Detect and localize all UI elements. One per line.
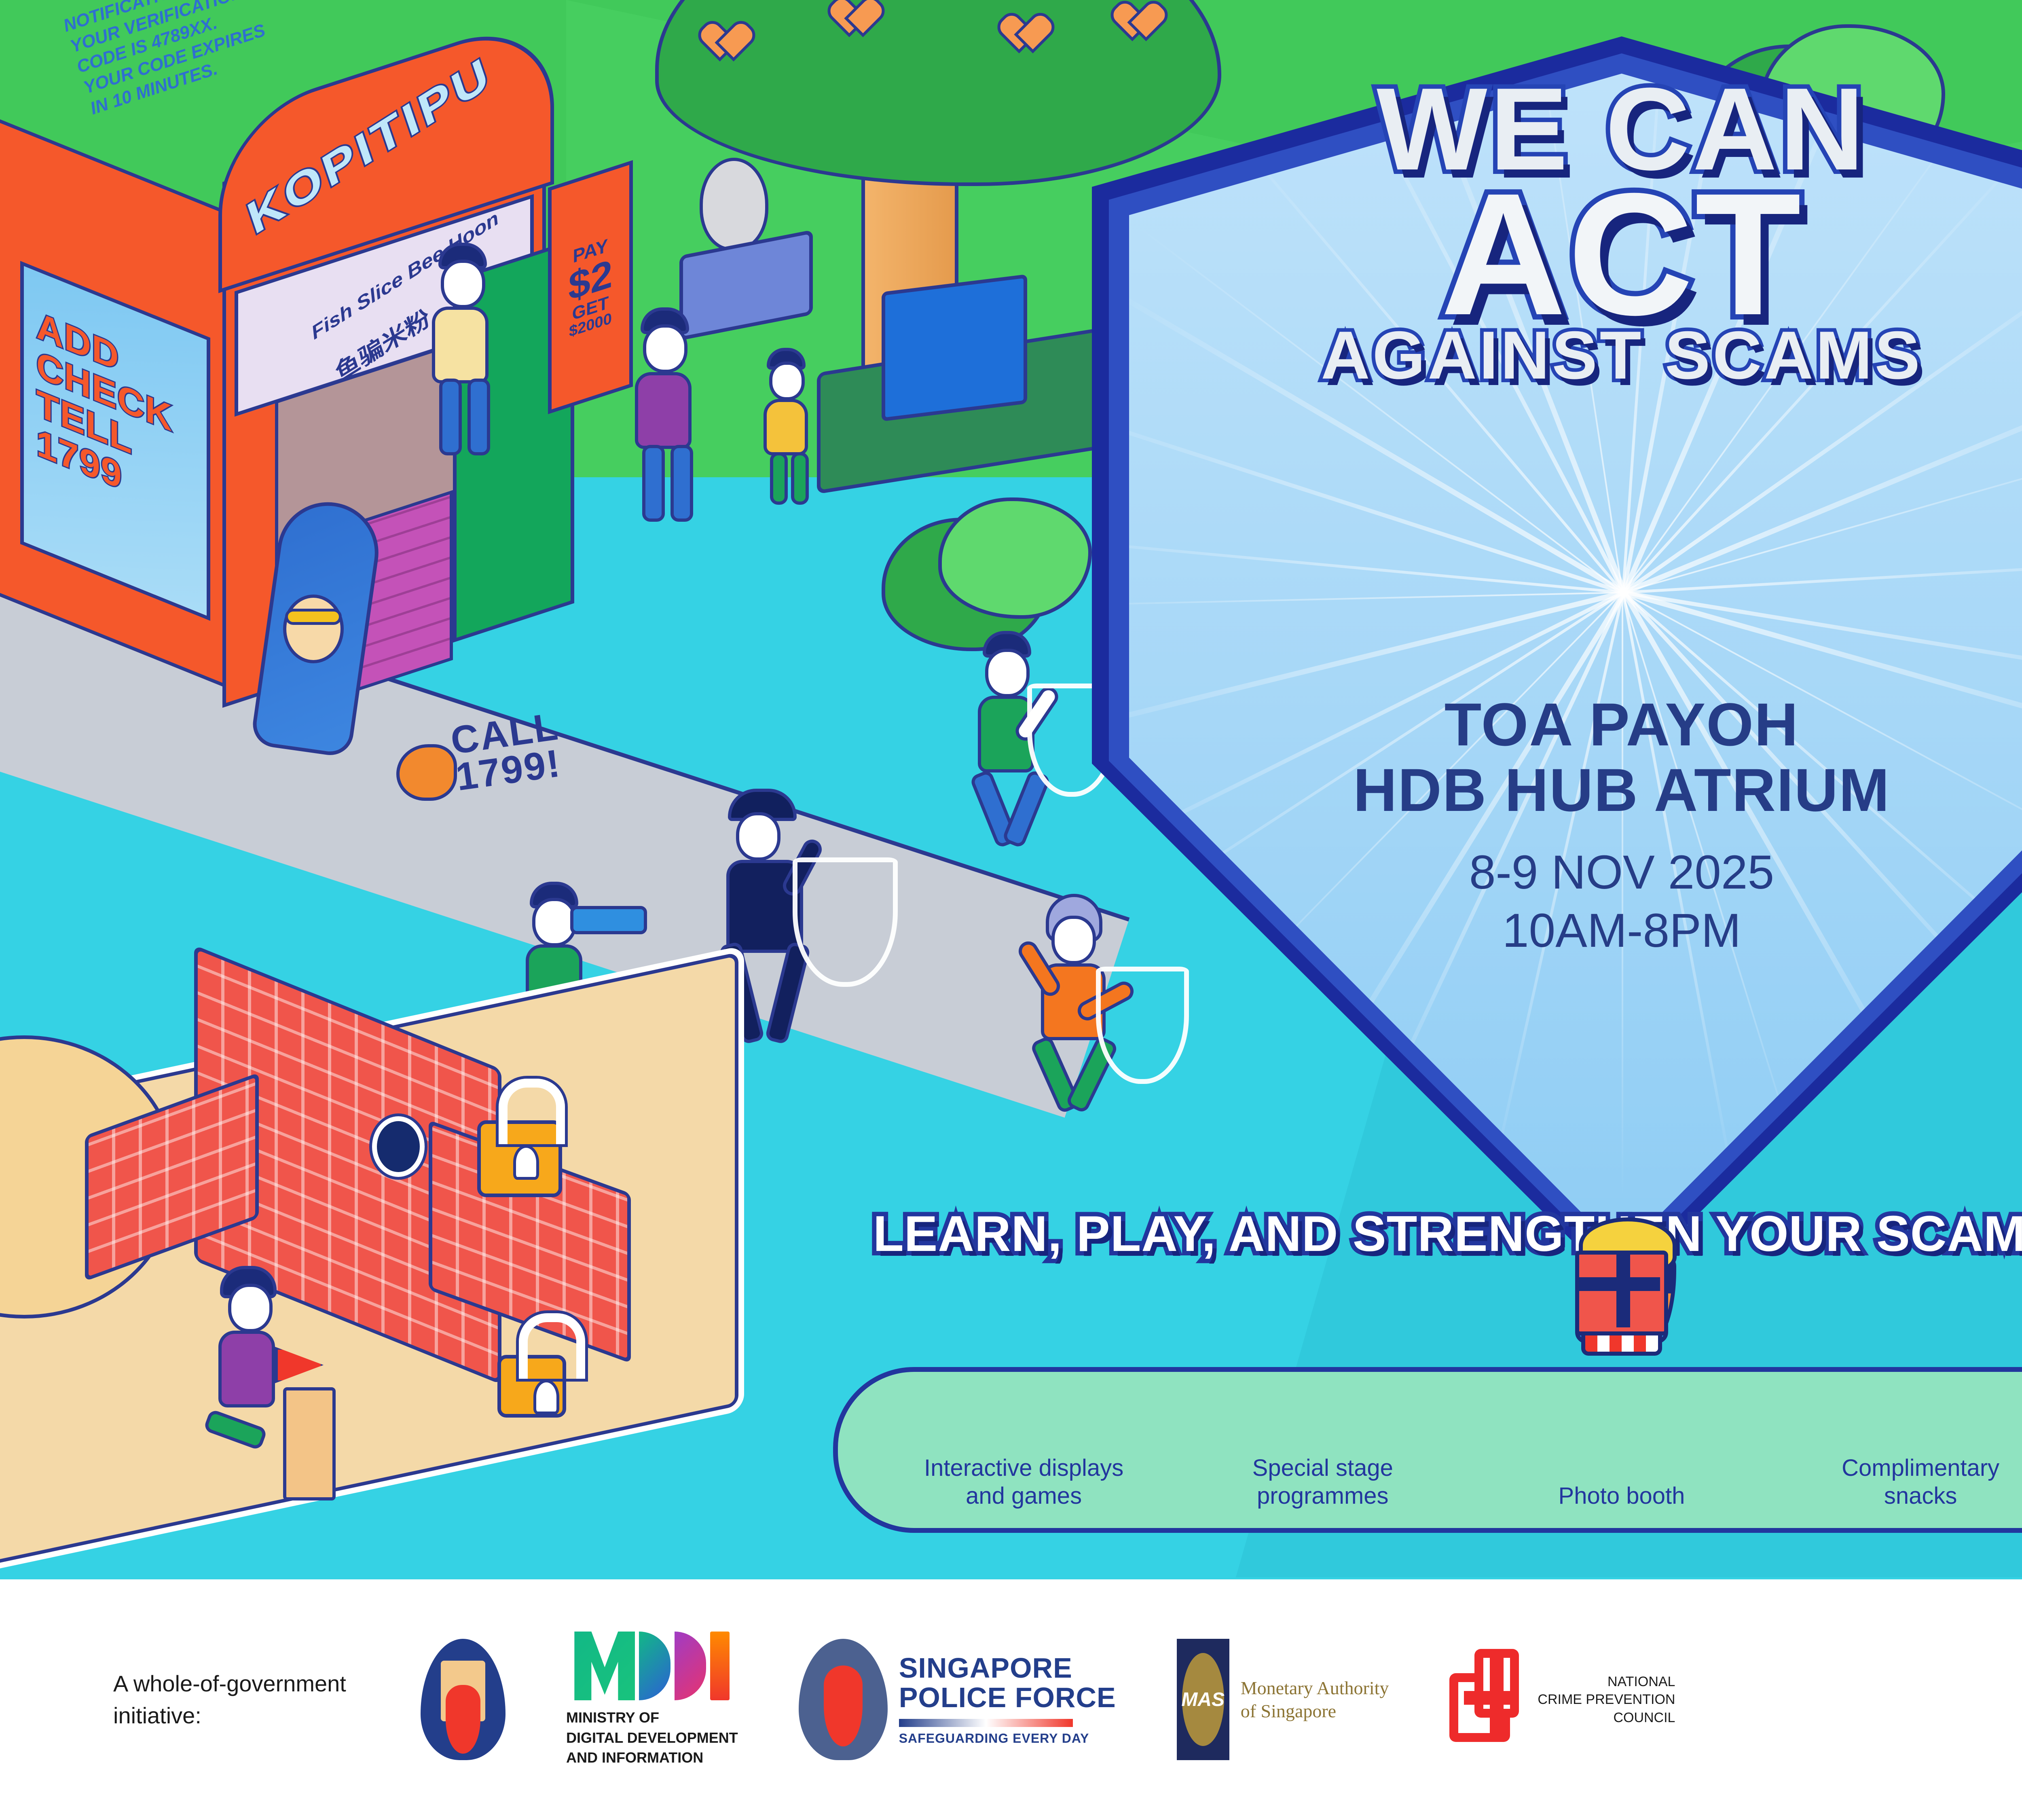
partner-logos: MINISTRY OF DIGITAL DEVELOPMENT AND INFO… bbox=[421, 1632, 2022, 1768]
footer-lead-text: A whole-of-government initiative: bbox=[113, 1668, 421, 1731]
logo-spf: SINGAPORE POLICE FORCE SAFEGUARDING EVER… bbox=[799, 1639, 1116, 1760]
feature-label-line2: snacks bbox=[1791, 1482, 2022, 1510]
event-date: 8-9 NOV 2025 bbox=[1092, 844, 2022, 902]
mas-wordmark: Monetary Authority of Singapore bbox=[1241, 1676, 1389, 1723]
heart-icon bbox=[841, 0, 878, 33]
ncpc-mark-icon bbox=[1449, 1649, 1526, 1750]
feature-item: Interactive displays and games bbox=[895, 1454, 1153, 1510]
sandcastle bbox=[283, 1387, 336, 1500]
shield-ray bbox=[1129, 404, 1624, 595]
feature-item: Special stage programmes bbox=[1193, 1454, 1452, 1510]
mha-crest-icon bbox=[421, 1639, 505, 1760]
kopitipu-stall: ADD CHECK TELL 1799 KOPITIPU Fish Slice … bbox=[0, 138, 607, 712]
mddi-wordmark: MINISTRY OF DIGITAL DEVELOPMENT AND INFO… bbox=[566, 1708, 738, 1768]
binoculars-icon bbox=[570, 906, 647, 934]
shield-ray bbox=[1623, 590, 2022, 692]
feature-label-line1: Complimentary bbox=[1791, 1454, 2022, 1482]
padlock-icon bbox=[477, 1120, 562, 1197]
cupid-figure bbox=[700, 158, 768, 251]
spf-wordmark: SINGAPORE POLICE FORCE SAFEGUARDING EVER… bbox=[899, 1653, 1116, 1746]
feature-label-line1: Photo booth bbox=[1492, 1482, 1751, 1510]
logo-ncpc: NATIONAL CRIME PREVENTION COUNCIL bbox=[1449, 1649, 1675, 1750]
shield-ray bbox=[1129, 592, 1622, 607]
feature-item: Complimentary snacks bbox=[1791, 1454, 2022, 1510]
padlock-icon bbox=[497, 1355, 566, 1418]
scammer-shark-mask bbox=[285, 609, 342, 625]
logo-mddi: MINISTRY OF DIGITAL DEVELOPMENT AND INFO… bbox=[566, 1632, 738, 1768]
crocodile-playground-structure bbox=[73, 983, 679, 1407]
hero-shield: WE CAN ACT AGAINST SCAMS TOA PAYOH HDB H… bbox=[1092, 36, 2022, 1290]
features-bar: Interactive displays and games Special s… bbox=[833, 1367, 2022, 1533]
feature-label-line2: programmes bbox=[1193, 1482, 1452, 1510]
chicken-icon bbox=[396, 744, 457, 801]
event-time: 10AM-8PM bbox=[1092, 902, 2022, 960]
mas-mark-icon: MAS bbox=[1177, 1639, 1229, 1760]
illustration-stage: ADD CHECK TELL 1799 KOPITIPU Fish Slice … bbox=[0, 0, 2022, 1579]
promo-sign: PAY $2 GET $2000 bbox=[548, 160, 633, 414]
logo-mas: MAS Monetary Authority of Singapore bbox=[1177, 1639, 1389, 1760]
footer-bar: A whole-of-government initiative: MINIST… bbox=[0, 1579, 2022, 1820]
mddi-mark-icon bbox=[574, 1632, 730, 1700]
logo-mha bbox=[421, 1639, 505, 1760]
title-line-against-scams: AGAINST SCAMS bbox=[1092, 321, 2022, 389]
feature-label-line1: Special stage bbox=[1193, 1454, 1452, 1482]
venue-line-2: HDB HUB ATRIUM bbox=[1092, 757, 2022, 823]
poster-root: ADD CHECK TELL 1799 KOPITIPU Fish Slice … bbox=[0, 0, 2022, 1820]
tagline: LEARN, PLAY, AND STRENGTHEN YOUR SCAM RE… bbox=[869, 1205, 2022, 1263]
shield-ray bbox=[1623, 358, 2022, 595]
scammer-shark-face bbox=[283, 595, 344, 663]
spf-rule bbox=[899, 1719, 1073, 1727]
venue-line-1: TOA PAYOH bbox=[1092, 692, 2022, 757]
crocodile-eye bbox=[372, 1116, 425, 1177]
heart-icon bbox=[1011, 16, 1047, 49]
event-details: TOA PAYOH HDB HUB ATRIUM 8-9 NOV 2025 10… bbox=[1092, 692, 2022, 960]
catfishing-profile-board bbox=[882, 274, 1027, 421]
feature-label-line2: and games bbox=[895, 1482, 1153, 1510]
feature-item: Photo booth bbox=[1492, 1482, 1751, 1510]
title-line-act: ACT bbox=[1092, 175, 2022, 335]
bush-icon bbox=[938, 497, 1092, 619]
ncpc-wordmark: NATIONAL CRIME PREVENTION COUNCIL bbox=[1538, 1673, 1675, 1727]
shield-ray bbox=[1129, 535, 1623, 594]
heart-icon bbox=[712, 24, 748, 57]
spf-crest-icon bbox=[799, 1639, 888, 1760]
campaign-title: WE CAN ACT AGAINST SCAMS bbox=[1092, 73, 2022, 389]
feature-label-line1: Interactive displays bbox=[895, 1454, 1153, 1482]
heart-icon bbox=[1124, 4, 1161, 37]
gift-icon bbox=[1575, 1251, 1668, 1356]
